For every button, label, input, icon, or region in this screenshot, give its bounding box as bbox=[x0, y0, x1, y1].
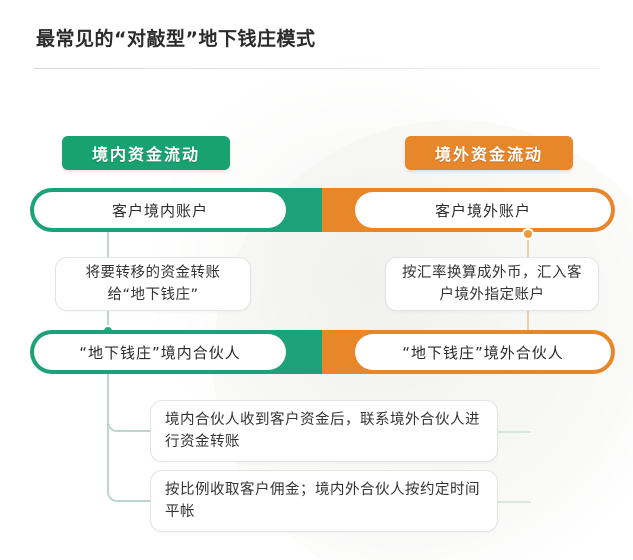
band-domestic-row1: 客户境内账户 bbox=[30, 188, 322, 232]
card-step-convert-and-remit-text: 按汇率换算成外币，汇入客户境外指定账户 bbox=[386, 262, 598, 307]
band-overseas-row2: “地下钱庄”境外合伙人 bbox=[322, 330, 615, 374]
connector-stub-right-card-1 bbox=[497, 431, 531, 433]
connector-stub-right-card-2 bbox=[497, 501, 531, 503]
card-step-commission-and-settlement-text: 按比例收取客户佣金；境内外合伙人按约定时间平帐 bbox=[151, 479, 497, 524]
title-divider bbox=[34, 68, 600, 69]
column-header-overseas: 境外资金流动 bbox=[405, 136, 573, 170]
infographic-page: 最常见的“对敲型”地下钱庄模式 境内资金流动 境外资金流动 客户境内账户 客户境… bbox=[0, 0, 633, 560]
node-underground-bank-overseas-partner: “地下钱庄”境外合伙人 bbox=[355, 334, 611, 370]
card-step-partner-contact-transfer: 境内合伙人收到客户资金后，联系境外合伙人进行资金转账 bbox=[150, 400, 498, 462]
connector-dot-right-orange bbox=[522, 228, 534, 240]
node-customer-overseas-account: 客户境外账户 bbox=[355, 192, 611, 228]
band-domestic-row2: “地下钱庄”境内合伙人 bbox=[30, 330, 322, 374]
card-step-transfer-to-underground-bank: 将要转移的资金转账给“地下钱庄” bbox=[55, 257, 251, 311]
node-customer-domestic-account: 客户境内账户 bbox=[34, 192, 286, 228]
connector-left-upper bbox=[107, 232, 109, 258]
card-step-commission-and-settlement: 按比例收取客户佣金；境内外合伙人按约定时间平帐 bbox=[150, 470, 498, 532]
band-overseas-row1: 客户境外账户 bbox=[322, 188, 615, 232]
column-header-domestic: 境内资金流动 bbox=[62, 136, 230, 170]
page-title: 最常见的“对敲型”地下钱庄模式 bbox=[36, 24, 315, 51]
card-step-partner-contact-transfer-text: 境内合伙人收到客户资金后，联系境外合伙人进行资金转账 bbox=[151, 409, 497, 454]
card-step-convert-and-remit: 按汇率换算成外币，汇入客户境外指定账户 bbox=[385, 257, 599, 311]
card-step-transfer-to-underground-bank-text: 将要转移的资金转账给“地下钱庄” bbox=[56, 262, 250, 307]
node-underground-bank-domestic-partner: “地下钱庄”境内合伙人 bbox=[34, 334, 286, 370]
